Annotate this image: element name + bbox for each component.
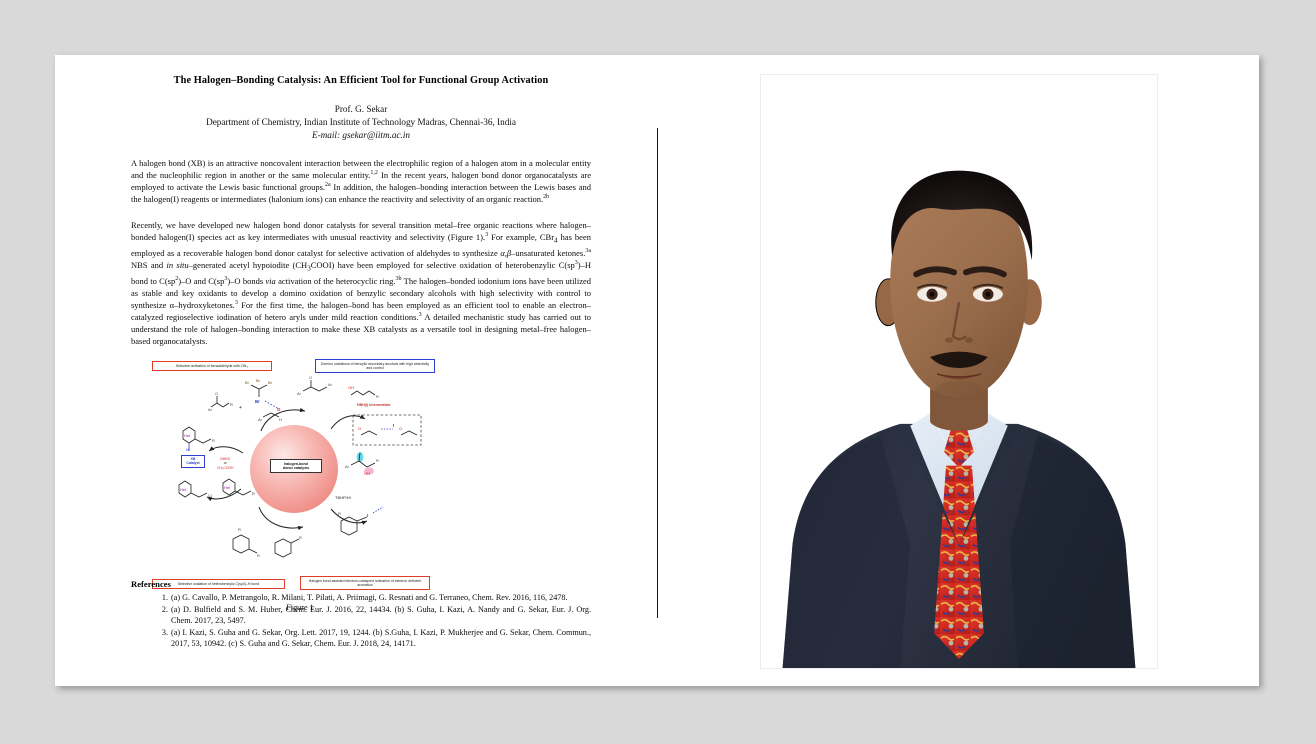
center-catalysis-label: halogen-bond donor catalysis — [270, 459, 322, 473]
paragraph-2: Recently, we have developed new halogen … — [131, 219, 591, 346]
reference-item: (a) G. Cavallo, P. Metrangolo, R. Milani… — [157, 593, 591, 604]
screenshot-viewport: The Halogen–Bonding Catalysis: An Effici… — [0, 0, 1316, 744]
reference-item: (a) D. Bulfield and S. M. Huber, Chem. E… — [157, 605, 591, 626]
figure-scheme-graphic: Ar O R + Br Br Br Br O — [155, 371, 445, 601]
svg-text:Ar: Ar — [297, 391, 302, 396]
p2-italic2: in situ — [166, 260, 188, 270]
solvent-line3: CH₃COOH — [217, 466, 233, 470]
svg-text:N: N — [186, 447, 189, 452]
svg-text:Ar: Ar — [328, 382, 333, 387]
author-name: Prof. G. Sekar — [131, 103, 591, 116]
svg-text:+: + — [239, 405, 242, 411]
svg-text:I: I — [367, 513, 368, 518]
svg-text:Br: Br — [268, 380, 273, 385]
svg-text:R: R — [230, 402, 233, 407]
p2-sup2: 3a — [585, 248, 591, 254]
p1-sup1: 1,2 — [370, 170, 378, 176]
portrait-photo-frame — [760, 74, 1158, 669]
reference-item: (a) I. Kazi, S. Guha and G. Sekar, Org. … — [157, 628, 591, 649]
svg-text:R: R — [257, 553, 260, 558]
svg-text:O: O — [399, 426, 402, 431]
svg-text:Br: Br — [255, 399, 260, 404]
svg-text:O: O — [215, 391, 218, 396]
svg-text:O: O — [309, 375, 312, 380]
xb-catalyst-label: XB Catalyst — [181, 455, 205, 468]
p1-sup3: 2b — [543, 194, 549, 200]
solvent-condition-label: DMSO or CH₃COOH — [217, 457, 233, 470]
p2-seg6: –generated acetyl hypoiodite (CH — [189, 260, 308, 270]
svg-text:R: R — [376, 394, 379, 399]
svg-text:OH: OH — [348, 385, 354, 390]
page-title: The Halogen–Bonding Catalysis: An Effici… — [131, 75, 591, 86]
xb-label-line2: Catalyst — [186, 461, 199, 465]
svg-text:Ar: Ar — [208, 407, 213, 412]
center-label-line1: halogen-bond — [284, 462, 308, 466]
p2-seg2: For example, CBr — [488, 232, 554, 242]
svg-text:I: I — [393, 423, 394, 428]
document-page: The Halogen–Bonding Catalysis: An Effici… — [55, 55, 1259, 686]
center-label-line2: donor catalysis — [283, 466, 309, 470]
p2-seg7: COOI) have been employed for selective o… — [311, 260, 575, 270]
svg-text:Ar: Ar — [258, 417, 263, 422]
callout-selective-activation: Selective activation of benzaldehyde wit… — [152, 361, 272, 371]
author-email: E-mail: gsekar@iitm.ac.in — [131, 129, 591, 142]
svg-text:TBHP/HI: TBHP/HI — [335, 495, 351, 500]
svg-text:O: O — [358, 426, 361, 431]
p2-italic1: α,β — [500, 248, 511, 258]
p2-seg10: )–O bonds — [227, 276, 265, 286]
svg-text:R: R — [338, 511, 341, 516]
references-list: (a) G. Cavallo, P. Metrangolo, R. Milani… — [131, 593, 591, 649]
svg-text:O: O — [277, 407, 281, 412]
svg-text:R: R — [212, 438, 215, 443]
p2-seg11: activation of the heterocyclic ring. — [276, 276, 396, 286]
paragraph-1: A halogen bond (XB) is an attractive non… — [131, 157, 591, 205]
column-divider — [657, 128, 658, 618]
author-affiliation: Department of Chemistry, Indian Institut… — [131, 116, 591, 129]
svg-text:Het: Het — [180, 488, 187, 492]
references-heading: References — [131, 579, 591, 589]
svg-text:R: R — [238, 527, 241, 532]
svg-text:H: H — [279, 417, 282, 422]
svg-text:R: R — [299, 535, 302, 540]
svg-text:Het: Het — [184, 434, 191, 438]
p2-seg5: NBS and — [131, 260, 166, 270]
p2-seg9: )–O and C(sp — [178, 276, 224, 286]
p2-italic3: via — [265, 276, 275, 286]
portrait-photo — [761, 75, 1157, 668]
svg-text:OH: OH — [364, 471, 370, 476]
author-block: Prof. G. Sekar Department of Chemistry, … — [131, 103, 591, 142]
svg-text:Br: Br — [256, 378, 261, 383]
svg-text:Cl: Cl — [208, 493, 212, 498]
callout-domino-oxidation: Domino oxidations of benzylic secondary … — [315, 359, 435, 373]
svg-text:R: R — [376, 458, 379, 463]
svg-text:Het: Het — [224, 486, 231, 490]
references-section: References (a) G. Cavallo, P. Metrangolo… — [131, 579, 591, 651]
hbh-intermediate-label: HBH(I) intermediate — [357, 403, 391, 407]
svg-text:Br: Br — [245, 380, 250, 385]
p2-seg4: –unsaturated ketones. — [511, 248, 585, 258]
svg-text:Ar: Ar — [345, 464, 350, 469]
svg-text:R: R — [252, 491, 255, 496]
